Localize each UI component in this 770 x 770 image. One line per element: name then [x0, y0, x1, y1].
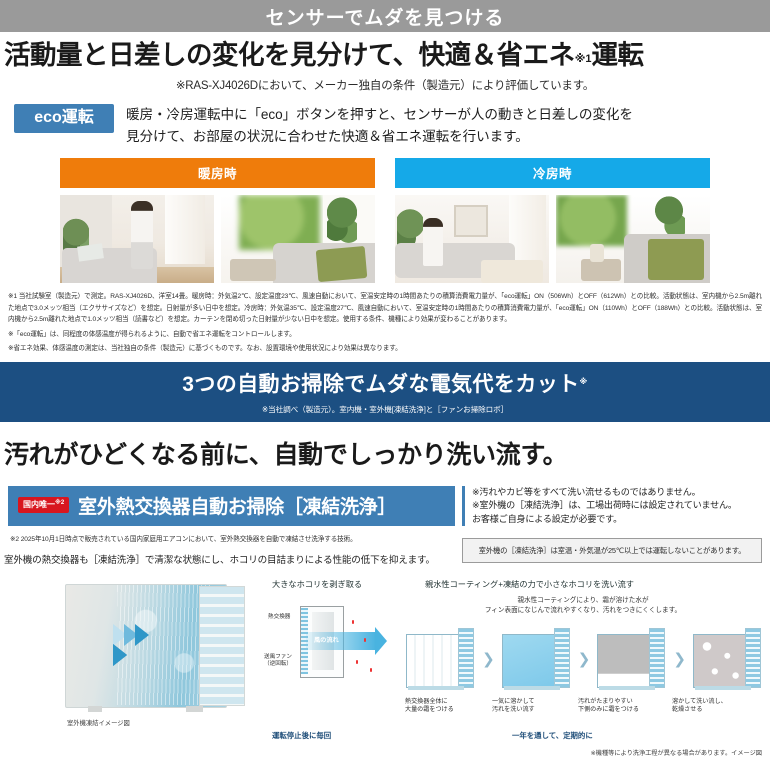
feature-description: 室外機の熱交換器も［凍結洗浄］で清潔な状態にし、ホコリの目詰まりによる性能の低下…	[4, 552, 455, 566]
step-arrow-icon-1: ❯	[482, 652, 495, 667]
step-caption-2: 一気に溶かして 汚れを洗い流す	[492, 698, 535, 715]
photo-woman-on-sofa	[395, 195, 549, 283]
sensor-headline: 活動量と日差しの変化を見分けて、快適＆省エネ※1運転	[4, 41, 770, 70]
feature-footnote: ※2 2025年10月1日時点で販売されている国内家庭用エアコンにおいて、室外熱…	[10, 533, 455, 543]
eco-description-line-1: 暖房・冷房運転中に「eco」ボタンを押すと、センサーが人の動きと日差しの変化を	[126, 104, 633, 126]
feature-left-column: 国内唯一※2 室外熱交換器自動お掃除［凍結洗浄］ ※2 2025年10月1日時点…	[0, 486, 455, 566]
airflow-label: 風の流れ	[314, 635, 339, 644]
step-illustration-1	[404, 628, 477, 692]
freeze-wash-diagram: 室外機凍結イメージ図 大きなホコリを剥ぎ取る 親水性コーティング+凍結の力で小さ…	[0, 572, 770, 768]
step-illustration-4	[691, 628, 764, 692]
auto-clean-banner-title-text: 3つの自動お掃除でムダな電気代をカット	[182, 373, 579, 396]
feature-right-column: ※汚れやカビ等をすべて洗い流せるものではありません。 ※室外機の［凍結洗浄］は、…	[462, 486, 762, 566]
footnote-2: ※「eco運転」は、同程度の体感温度が得られるように、自動で省エネ運転をコントロ…	[8, 329, 762, 341]
right-note-1: ※汚れやカビ等をすべて洗い流せるものではありません。	[472, 486, 762, 499]
feature-title-bar: 国内唯一※2 室外熱交換器自動お掃除［凍結洗浄］	[8, 486, 455, 526]
sensor-section-banner: センサーでムダを見つける	[0, 0, 770, 32]
eco-badge: eco運転	[14, 104, 114, 133]
temperature-warning-box: 室外機の［凍結洗浄］は室温・外気温が25℃以上では運転しないことがあります。	[462, 538, 762, 563]
heat-exchanger-label: 熱交換器	[268, 612, 290, 620]
heating-mode-photos	[60, 195, 375, 283]
blue-caption-right: 一年を通して、定期的に	[512, 730, 593, 741]
eco-description-line-2: 見分けて、お部屋の状況に合わせた快適＆省エネ運転を行います。	[126, 126, 633, 148]
eco-description: 暖房・冷房運転中に「eco」ボタンを押すと、センサーが人の動きと日差しの変化を …	[126, 104, 633, 148]
diagram-footnote: ※機種等により洗浄工程が異なる場合があります。イメージ図	[591, 748, 762, 757]
right-note-2: ※室外機の［凍結洗浄］は、工場出荷時には設定されていません。	[472, 499, 762, 512]
diagram-subtitle: 親水性コーティングにより、霜が溶けた水が フィン表面になじんで流れやすくなり、汚…	[408, 596, 758, 616]
cooling-mode-column: 冷房時	[395, 158, 710, 283]
auto-clean-banner-note: ※当社調べ（製造元）。室内機・室外機[凍結洗浄]と［ファンお掃除ロボ］	[262, 404, 508, 415]
photo-living-room-green	[556, 195, 710, 283]
airflow-chevron-icon	[113, 624, 157, 668]
right-note-3: お客様ご自身による設定が必要です。	[472, 513, 762, 526]
step-caption-4: 溶かして洗い流し、 乾燥させる	[672, 698, 727, 715]
heating-mode-column: 暖房時	[60, 158, 375, 283]
heating-mode-label: 暖房時	[60, 158, 375, 188]
product-feature-page: センサーでムダを見つける 活動量と日差しの変化を見分けて、快適＆省エネ※1運転 …	[0, 0, 770, 770]
outdoor-unit-grille	[199, 586, 245, 706]
feature-title: 室外熱交換器自動お掃除［凍結洗浄］	[78, 492, 396, 519]
step-illustration-2	[500, 628, 573, 692]
sensor-headline-note: ※RAS-XJ4026Dにおいて、メーカー独自の条件（製造元）により評価していま…	[0, 77, 770, 93]
domestic-only-badge-text: 国内唯一	[23, 500, 55, 509]
step-caption-3: 汚れがたまりやすい 下側のみに霜をつける	[578, 698, 639, 715]
diagram-subtitle-line-1: 親水性コーティングにより、霜が溶けた水が	[408, 596, 758, 606]
sensor-banner-label: センサーでムダを見つける	[266, 3, 505, 30]
sensor-headline-main: 活動量と日差しの変化を見分けて、快適＆省エネ	[4, 40, 575, 70]
domestic-only-badge-sup: ※2	[55, 500, 64, 506]
step-illustration-3	[595, 628, 668, 692]
feature-right-notes: ※汚れやカビ等をすべて洗い流せるものではありません。 ※室外機の［凍結洗浄］は、…	[462, 486, 762, 526]
photo-window-green-cushion	[221, 195, 375, 283]
auto-clean-headline: 汚れがひどくなる前に、自動でしっかり洗い流す。	[4, 435, 770, 471]
domestic-only-badge: 国内唯一※2	[18, 497, 69, 513]
footnote-1: ※1 当社試験室（製造元）で測定。RAS-XJ4026D、洋室14畳。暖房時：外…	[8, 291, 762, 326]
eco-operation-block: eco運転 暖房・冷房運転中に「eco」ボタンを押すと、センサーが人の動きと日差…	[14, 104, 770, 148]
sensor-footnotes: ※1 当社試験室（製造元）で測定。RAS-XJ4026D、洋室14畳。暖房時：外…	[8, 291, 762, 355]
cooling-mode-label: 冷房時	[395, 158, 710, 188]
diagram-subtitle-line-2: フィン表面になじんで流れやすくなり、汚れをつきにくくします。	[408, 606, 758, 616]
fan-label: 送風ファン （逆回転）	[264, 654, 292, 668]
outdoor-unit-illustration: 室外機凍結イメージ図	[55, 576, 255, 726]
sensor-headline-footnote-marker: ※1	[575, 53, 592, 65]
mode-comparison-columns: 暖房時 冷房時	[60, 158, 710, 283]
step-arrow-icon-2: ❯	[578, 652, 591, 667]
diagram-title-left: 大きなホコリを剥ぎ取る	[272, 578, 362, 590]
cooling-mode-photos	[395, 195, 710, 283]
sensor-headline-tail: 運転	[592, 40, 644, 70]
diagram-title-right: 親水性コーティング+凍結の力で小さなホコリを洗い流す	[425, 578, 634, 590]
fan-reverse-schematic: 風の流れ 熱交換器 送風ファン （逆回転）	[268, 598, 384, 690]
auto-clean-banner: 3つの自動お掃除でムダな電気代をカット※ ※当社調べ（製造元）。室内機・室外機[…	[0, 362, 770, 422]
step-arrow-icon-3: ❯	[673, 652, 686, 667]
auto-clean-banner-title: 3つの自動お掃除でムダな電気代をカット※	[182, 368, 587, 398]
outdoor-unit-caption: 室外機凍結イメージ図	[67, 718, 130, 727]
outdoor-cleaning-feature: 国内唯一※2 室外熱交換器自動お掃除［凍結洗浄］ ※2 2025年10月1日時点…	[0, 486, 770, 566]
photo-man-vacuuming	[60, 195, 214, 283]
step-caption-1: 熱交換器全体に 大量の霜をつける	[405, 698, 454, 715]
footnote-3: ※省エネ効果、体感温度の測定は、当社独自の条件（製造元）に基づくものです。なお、…	[8, 343, 762, 355]
blue-caption-left: 運転停止後に毎回	[272, 730, 331, 741]
auto-clean-banner-footnote-marker: ※	[580, 377, 588, 386]
cleaning-step-illustrations: ❯ ❯ ❯	[404, 626, 764, 694]
